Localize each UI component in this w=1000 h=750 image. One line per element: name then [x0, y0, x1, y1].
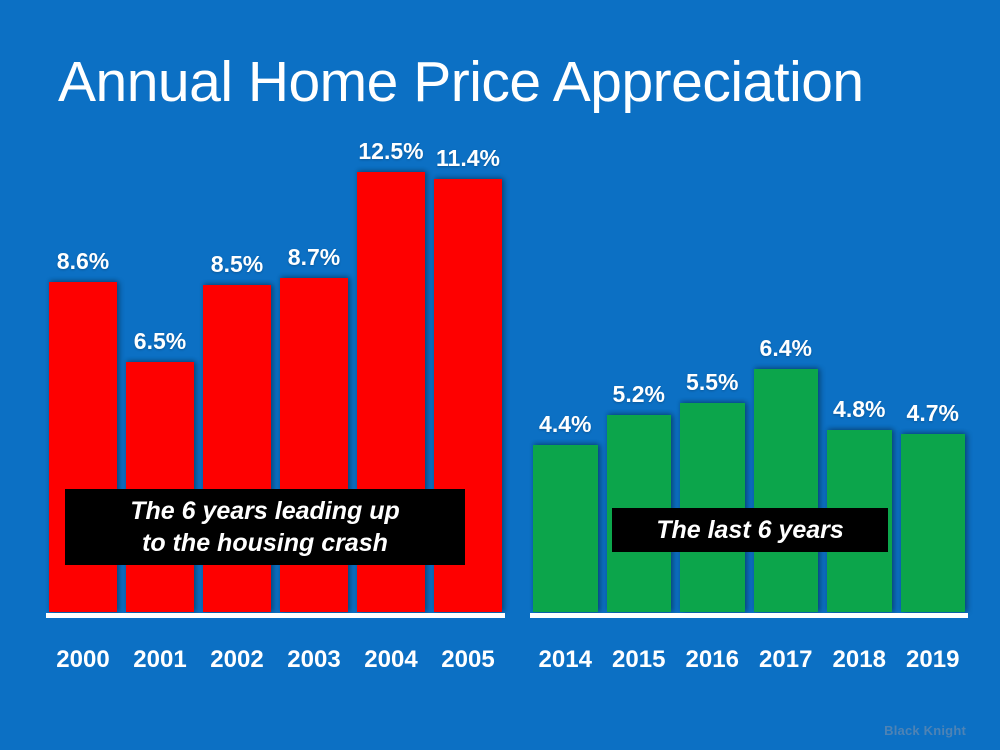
bar-value-label: 8.5% — [211, 253, 263, 276]
bar-value-label: 5.2% — [613, 383, 665, 406]
bar-value-label: 8.6% — [57, 250, 109, 273]
bar-value-label: 12.5% — [358, 140, 423, 163]
x-tick-2017: 2017 — [754, 648, 819, 672]
bar-item-2014[interactable]: 4.4% — [533, 140, 598, 612]
callout-right: The last 6 years — [612, 508, 888, 552]
bar-rect[interactable] — [533, 445, 598, 612]
bar-value-label: 11.4% — [436, 147, 500, 170]
x-axis-labels-left: 2000 2001 2002 2003 2004 2005 — [30, 648, 510, 672]
x-tick-2001: 2001 — [126, 648, 194, 672]
x-axis-labels-right: 2014 2015 2016 2017 2018 2019 — [512, 648, 984, 672]
bar-item-2019[interactable]: 4.7% — [901, 140, 966, 612]
bar-value-label: 8.7% — [288, 246, 340, 269]
x-tick-2016: 2016 — [680, 648, 745, 672]
bar-value-label: 4.8% — [833, 398, 885, 421]
x-tick-2015: 2015 — [607, 648, 672, 672]
callout-left-line-2: to the housing crash — [142, 527, 388, 559]
bar-value-label: 5.5% — [686, 371, 738, 394]
x-tick-2000: 2000 — [49, 648, 117, 672]
page-title: Annual Home Price Appreciation — [58, 54, 958, 111]
watermark-black-knight: Black Knight — [884, 723, 966, 738]
x-tick-2003: 2003 — [280, 648, 348, 672]
chart-panel-right: 4.4% 5.2% 5.5% 6.4% 4.8% — [512, 140, 984, 680]
bar-rect[interactable] — [754, 369, 819, 612]
bar-value-label: 4.4% — [539, 413, 591, 436]
x-tick-2019: 2019 — [901, 648, 966, 672]
x-axis-line-left — [46, 613, 505, 618]
x-tick-2014: 2014 — [533, 648, 598, 672]
callout-left-line-1: The 6 years leading up — [130, 495, 400, 527]
bar-value-label: 6.5% — [134, 330, 186, 353]
callout-right-line-1: The last 6 years — [656, 515, 844, 545]
callout-left: The 6 years leading up to the housing cr… — [65, 489, 465, 565]
bar-rect[interactable] — [901, 434, 966, 612]
x-tick-2004: 2004 — [357, 648, 425, 672]
bar-rect[interactable] — [126, 362, 194, 612]
x-tick-2002: 2002 — [203, 648, 271, 672]
x-tick-2005: 2005 — [434, 648, 502, 672]
chart-panel-left: 8.6% 6.5% 8.5% 8.7% 12.5% — [30, 140, 510, 680]
bar-value-label: 6.4% — [760, 337, 812, 360]
bar-value-label: 4.7% — [907, 402, 959, 425]
slide-canvas: Annual Home Price Appreciation 8.6% 6.5%… — [0, 0, 1000, 750]
x-axis-line-right — [530, 613, 968, 618]
x-tick-2018: 2018 — [827, 648, 892, 672]
